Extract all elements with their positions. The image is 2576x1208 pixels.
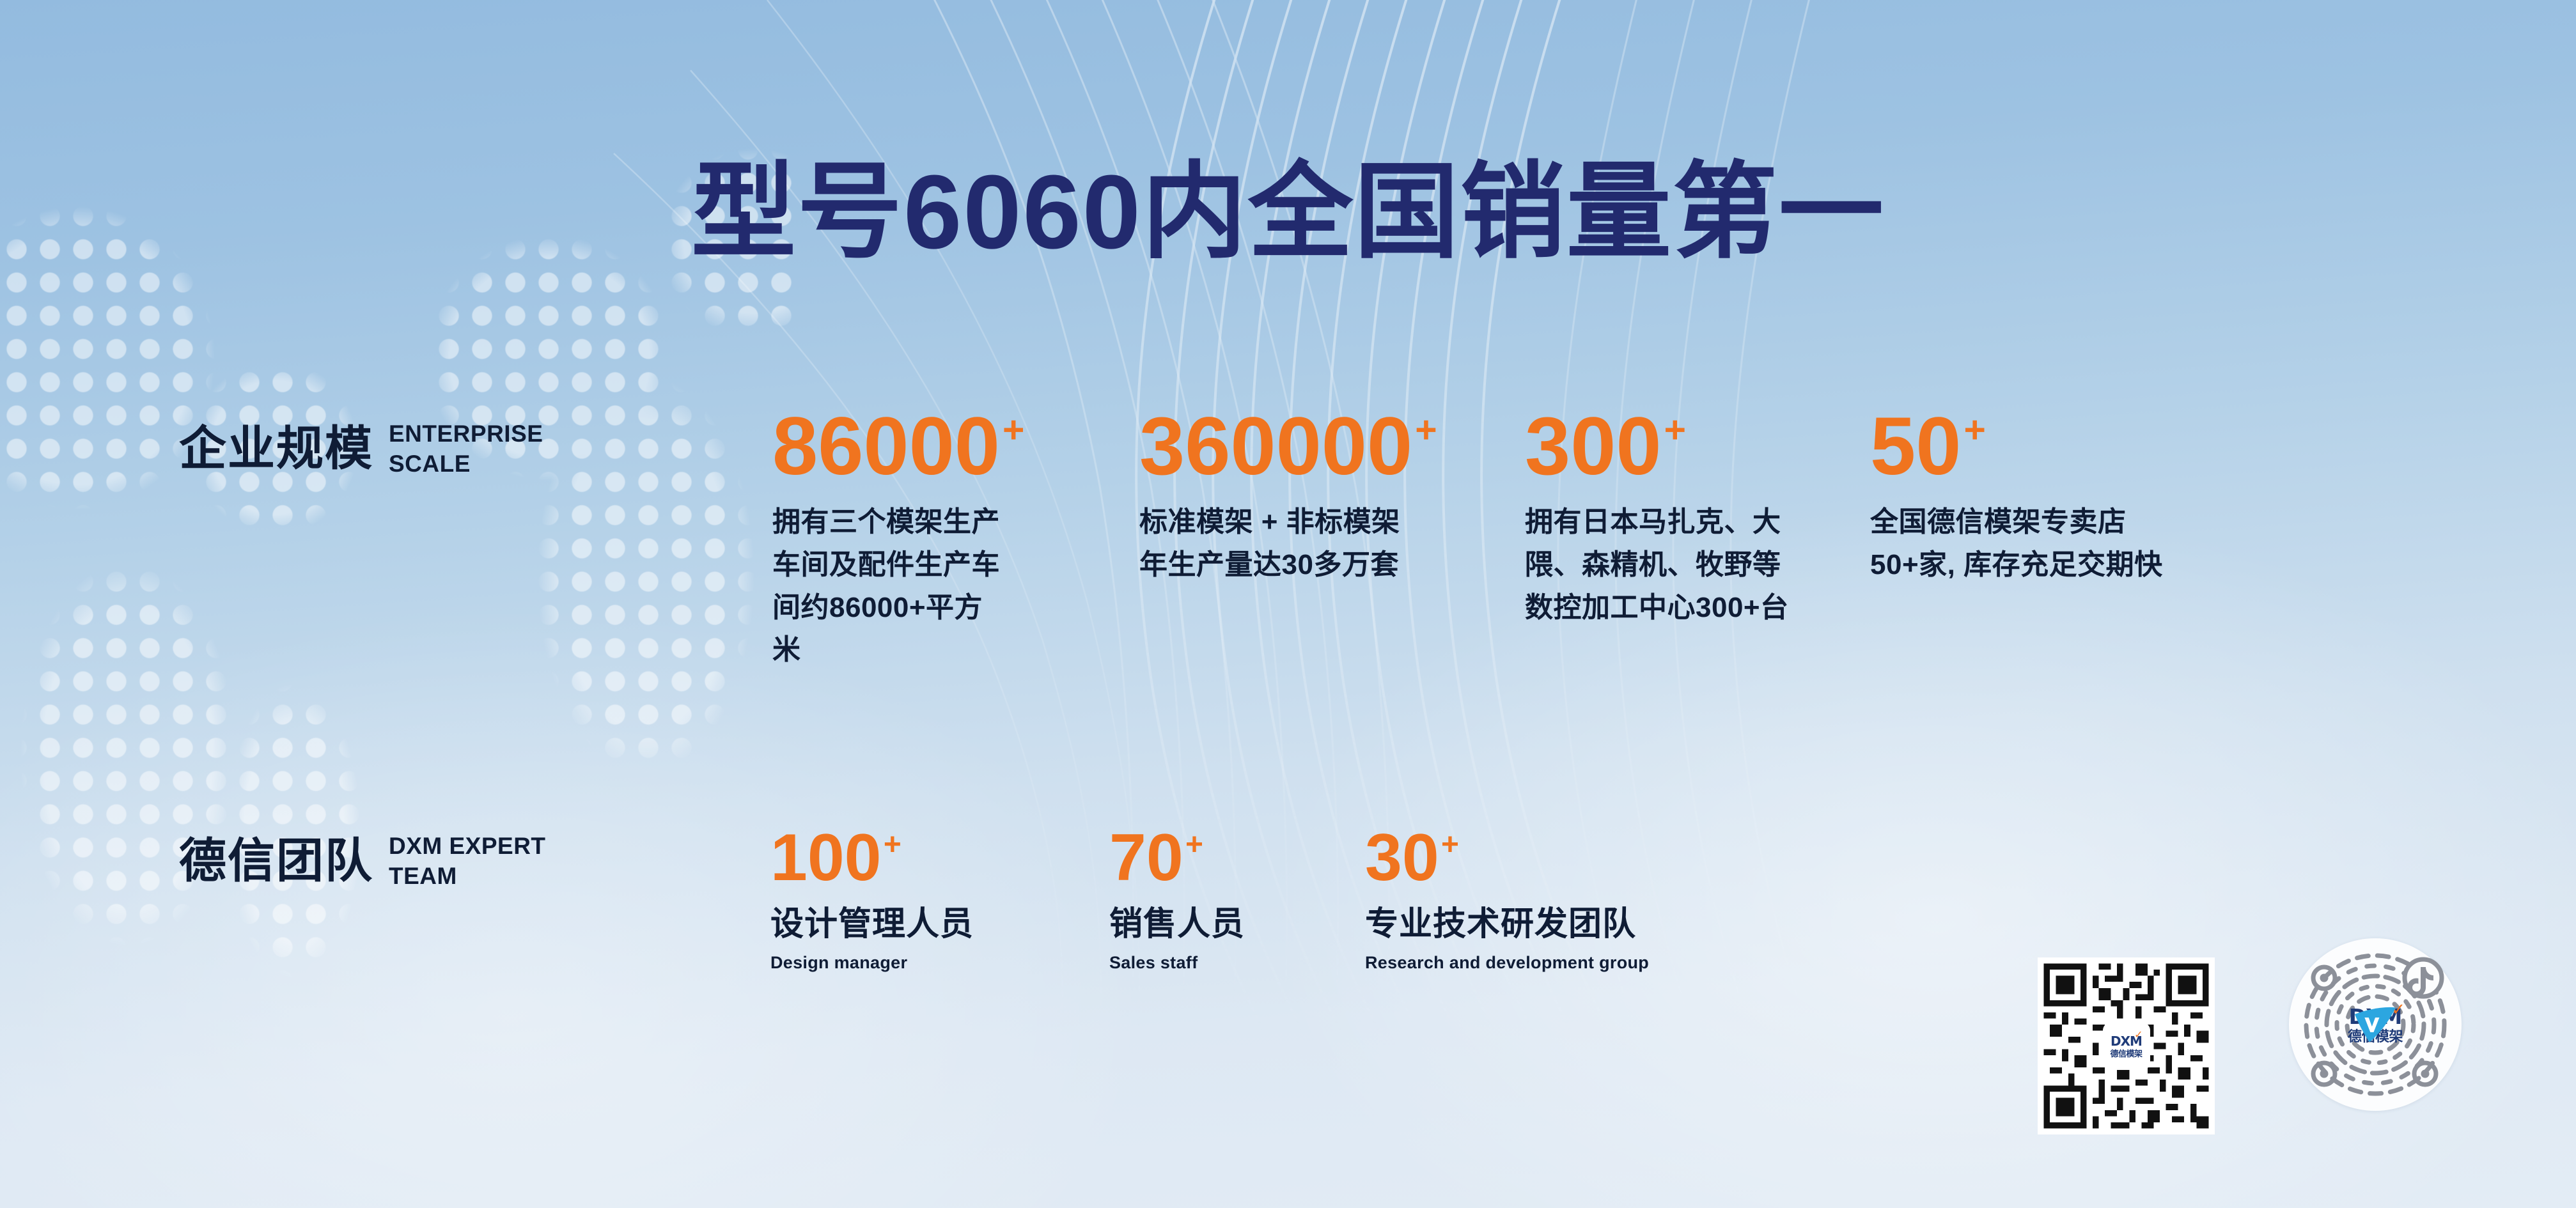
stat-plus-sign: +	[1003, 412, 1024, 449]
stat-number-value: 100	[770, 828, 882, 889]
stat-description: 专业技术研发团队	[1365, 904, 1649, 944]
stat-number-value: 70	[1109, 828, 1183, 889]
stat-number: 360000 +	[1139, 409, 1437, 484]
stat-workshop-area: 86000 + 拥有三个模架生产车间及配件生产车间约86000+平方米	[772, 409, 1024, 672]
blue-v-badge-icon	[2348, 1006, 2403, 1044]
stat-number-value: 360000	[1139, 409, 1412, 484]
row-label-en: DXM EXPERT TEAM	[389, 831, 587, 892]
stat-retail-stores: 50 + 全国德信模架专卖店50+家, 库存充足交期快	[1870, 409, 2209, 587]
row-label-dxm-expert-team: 德信团队 DXM EXPERT TEAM	[179, 831, 587, 892]
stat-subtitle: Design manager	[770, 953, 974, 973]
stat-description: 全国德信模架专卖店50+家, 库存充足交期快	[1870, 501, 2209, 587]
wechat-qr-code[interactable]: ✓ DXM 德信模架	[2038, 957, 2215, 1134]
row-label-cn: 德信团队	[179, 837, 373, 885]
stat-number-value: 30	[1365, 828, 1439, 889]
stat-plus-sign: +	[884, 830, 902, 860]
stat-number-value: 50	[1870, 409, 1961, 484]
stat-design-managers: 100 + 设计管理人员 Design manager	[770, 828, 974, 973]
stat-plus-sign: +	[1963, 412, 1985, 449]
page-title: 型号6060内全国销量第一	[0, 160, 2576, 265]
douyin-qr-code[interactable]: ✓ DXM 德信模架	[2289, 938, 2462, 1111]
stat-plus-sign: +	[1415, 412, 1437, 449]
stat-number: 300 +	[1525, 409, 1792, 484]
stat-number: 86000 +	[772, 409, 1024, 484]
stat-plus-sign: +	[1664, 412, 1686, 449]
stat-plus-sign: +	[1441, 830, 1459, 860]
stat-subtitle: Research and development group	[1365, 953, 1649, 973]
stat-number: 50 +	[1870, 409, 2209, 484]
row-label-enterprise-scale: 企业规模 ENTERPRISE SCALE	[179, 419, 600, 479]
stat-description: 设计管理人员	[770, 904, 974, 944]
stat-number: 100 +	[770, 828, 974, 889]
stat-number: 30 +	[1365, 828, 1649, 889]
promo-banner: 型号6060内全国销量第一 企业规模 ENTERPRISE SCALE 8600…	[0, 0, 2576, 1208]
stat-cnc-machines: 300 + 拥有日本马扎克、大隈、森精机、牧野等数控加工中心300+台	[1525, 409, 1792, 629]
stat-sales-staff: 70 + 销售人员 Sales staff	[1109, 828, 1245, 973]
stat-description: 标准模架 + 非标模架年生产量达30多万套	[1139, 501, 1408, 587]
brand-cn: 德信模架	[2110, 1049, 2142, 1058]
stat-description: 拥有日本马扎克、大隈、森精机、牧野等数控加工中心300+台	[1525, 501, 1792, 630]
qr-center-logo: ✓ DXM 德信模架	[2105, 1025, 2148, 1068]
row-label-en: ENTERPRISE SCALE	[389, 419, 600, 479]
stat-number-value: 86000	[772, 409, 1000, 484]
checkmark-icon: ✓	[2134, 1030, 2143, 1041]
stat-description: 销售人员	[1109, 904, 1245, 944]
qr-center-logo: ✓ DXM 德信模架	[2348, 1006, 2403, 1044]
stat-rd-team: 30 + 专业技术研发团队 Research and development g…	[1365, 828, 1649, 973]
stat-number: 70 +	[1109, 828, 1245, 889]
stat-subtitle: Sales staff	[1109, 953, 1245, 973]
row-label-cn: 企业规模	[179, 425, 373, 472]
stat-number-value: 300	[1525, 409, 1662, 484]
stat-plus-sign: +	[1185, 830, 1203, 860]
stat-annual-output: 360000 + 标准模架 + 非标模架年生产量达30多万套	[1139, 409, 1437, 587]
stat-description: 拥有三个模架生产车间及配件生产车间约86000+平方米	[772, 501, 1003, 672]
